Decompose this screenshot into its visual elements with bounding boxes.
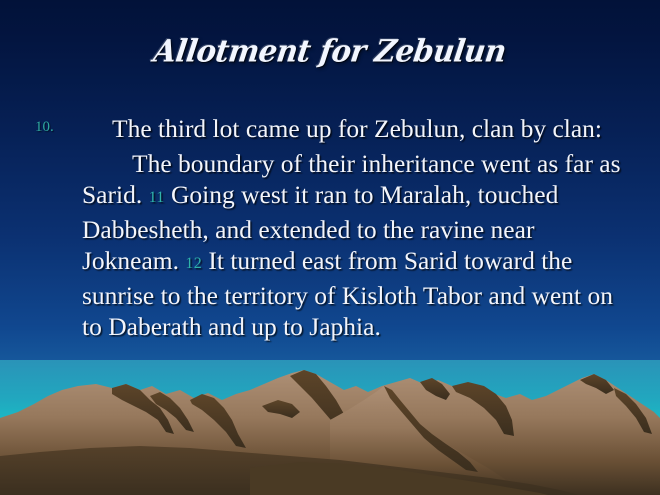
presentation-slide: Allotment for Zebulun 10.The third lot c… [0,0,660,495]
slide-body: 10.The third lot came up for Zebulun, cl… [0,113,660,343]
verse-number-12: 12 [185,255,202,272]
scripture-text-1: The third lot came up for Zebulun, clan … [112,114,602,143]
verse-number-11: 11 [149,189,165,206]
verse-number-10: 10. [35,120,54,135]
scripture-paragraph-2: The boundary of their inheritance went a… [30,148,634,343]
scripture-paragraph-1: 10.The third lot came up for Zebulun, cl… [30,113,634,145]
title-area: Allotment for Zebulun [0,34,660,68]
mountain-range-illustration [0,360,660,495]
page-title: Allotment for Zebulun [152,33,509,69]
